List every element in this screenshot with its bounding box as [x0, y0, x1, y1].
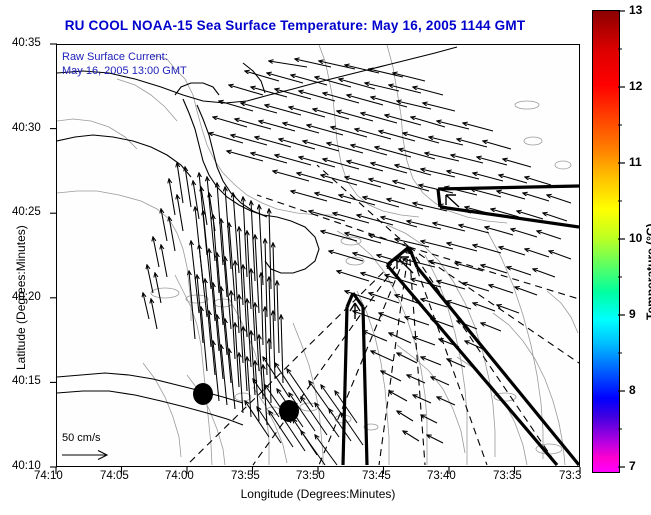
y-tick-label-4025: 40:25	[12, 206, 41, 218]
plot-annotation: Raw Surface Current: May 16, 2005 13:00 …	[62, 50, 187, 78]
x-tick-label-7400: 74:00	[165, 470, 194, 482]
y-axis-ticks	[46, 40, 58, 472]
x-tick-label-7405: 74:05	[100, 470, 129, 482]
x-tick-label-7345: 73:45	[362, 470, 391, 482]
y-tick-label-4035: 40:35	[12, 37, 41, 49]
vector-scale-arrow-icon	[60, 448, 116, 462]
colorbar-tick-10: 10	[629, 231, 642, 245]
colorbar-ticks	[618, 8, 628, 476]
x-tick-label-7340: 73:40	[427, 470, 456, 482]
x-tick-label-7355: 73:55	[231, 470, 260, 482]
y-tick-label-4030: 40:30	[12, 122, 41, 134]
x-axis-label: Longitude (Degrees:Minutes)	[56, 487, 580, 501]
vector-scale-label: 50 cm/s	[62, 432, 101, 444]
x-tick-label-7350: 73:50	[296, 470, 325, 482]
colorbar	[592, 10, 620, 473]
radar-beam-wedges	[343, 186, 579, 465]
map-plot-area	[56, 44, 580, 467]
colorbar-tick-8: 8	[629, 383, 636, 397]
colorbar-tick-9: 9	[629, 307, 636, 321]
colorbar-tick-12: 12	[629, 79, 642, 93]
colorbar-label: Temperature (°C)	[644, 223, 651, 320]
colorbar-tick-11: 11	[629, 155, 642, 169]
figure-canvas: RU COOL NOAA-15 Sea Surface Temperature:…	[0, 0, 651, 515]
colorbar-tick-13: 13	[629, 3, 642, 17]
colorbar-tick-7: 7	[629, 459, 636, 473]
annotation-line-1: Raw Surface Current:	[62, 50, 187, 64]
x-tick-label-7330: 73:3	[559, 470, 581, 482]
x-tick-label-7410: 74:10	[34, 470, 63, 482]
figure-title: RU COOL NOAA-15 Sea Surface Temperature:…	[0, 18, 590, 33]
y-axis-label: Latitude (Degrees:Minutes)	[14, 225, 28, 370]
y-tick-label-4015: 40:15	[12, 375, 41, 387]
map-svg	[57, 45, 579, 466]
x-tick-label-7335: 73:35	[493, 470, 522, 482]
station-marker	[193, 383, 213, 405]
annotation-line-2: May 16, 2005 13:00 GMT	[62, 64, 187, 78]
